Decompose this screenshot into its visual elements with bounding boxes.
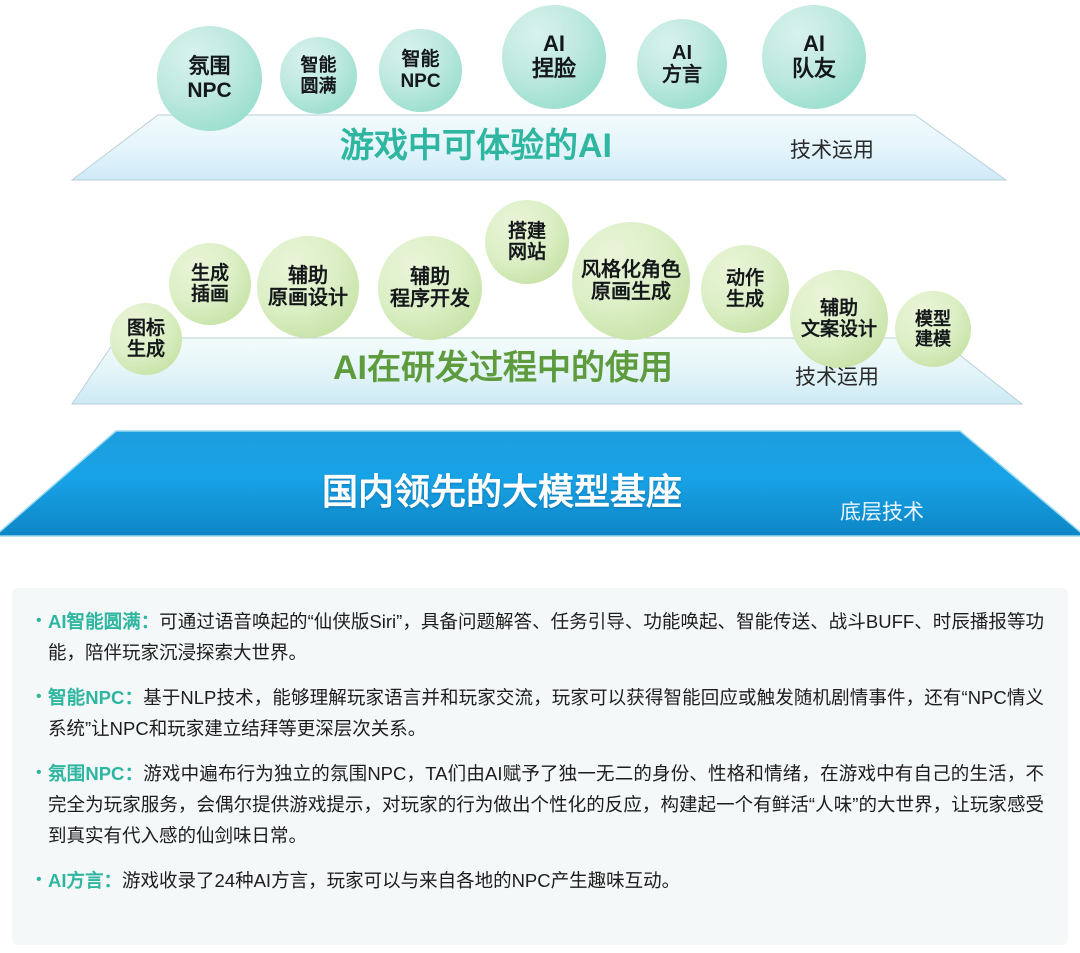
bubble-line: 图标 [127,318,165,339]
bubble-line: 原画生成 [591,281,671,303]
note-term: 氛围NPC： [48,763,143,784]
bubble-line: 程序开发 [390,288,470,310]
bubble-tier1-4[interactable]: AI 方言 [637,19,727,109]
bubble-line: 生成 [191,263,229,284]
bubble-line: 辅助 [410,266,450,288]
note-item: • 氛围NPC：游戏中遍布行为独立的氛围NPC，TA们由AI赋予了独一无二的身份… [34,758,1044,851]
tier-3-caption: 底层技术 [840,496,924,526]
bubble-line: 模型 [915,309,951,329]
bubble-line: 生成 [726,289,764,310]
tier-1-title: 游戏中可体验的AI [340,118,612,167]
bubble-line: 队友 [792,57,836,82]
bubble-tier2-6[interactable]: 动作 生成 [701,245,789,333]
bubble-line: AI [543,32,565,57]
bubble-tier2-4[interactable]: 搭建 网站 [485,200,569,284]
note-text: 基于NLP技术，能够理解玩家语言并和玩家交流，玩家可以获得智能回应或触发随机剧情… [48,687,1044,739]
note-item: • 智能NPC：基于NLP技术，能够理解玩家语言并和玩家交流，玩家可以获得智能回… [34,682,1044,744]
bubble-line: 智能 [301,55,337,75]
bubble-line: 网站 [508,242,546,263]
tier-2-caption: 技术运用 [795,361,879,391]
bubble-tier2-2[interactable]: 辅助 原画设计 [257,236,359,338]
note-body: AI方言：游戏收录了24种AI方言，玩家可以与来自各地的NPC产生趣味互动。 [48,865,1044,896]
bubble-line: 风格化角色 [581,259,681,281]
note-term: 智能NPC： [48,687,143,708]
tier-3-title: 国内领先的大模型基座 [322,463,682,515]
bullet-icon: • [34,606,48,636]
bubble-line: 辅助 [820,298,858,319]
bubble-line: 插画 [191,284,229,305]
bubble-tier2-3[interactable]: 辅助 程序开发 [378,236,482,340]
bubble-tier2-7[interactable]: 辅助 文案设计 [790,270,888,368]
bubble-line: 捏脸 [532,57,576,82]
bubble-tier2-1[interactable]: 生成 插画 [169,243,251,325]
notes-panel: • AI智能圆满：可通过语音唤起的“仙侠版Siri”，具备问题解答、任务引导、功… [12,588,1068,945]
note-text: 游戏中遍布行为独立的氛围NPC，TA们由AI赋予了独一无二的身份、性格和情绪，在… [48,763,1044,846]
note-item: • AI智能圆满：可通过语音唤起的“仙侠版Siri”，具备问题解答、任务引导、功… [34,606,1044,668]
bullet-icon: • [34,865,48,895]
note-term: AI智能圆满： [48,611,159,632]
bubble-line: 方言 [662,64,702,86]
bubble-line: 原画设计 [268,287,348,309]
note-term: AI方言： [48,870,122,891]
pyramid-diagram: 氛围 NPC 智能 圆满 智能 NPC AI 捏脸 AI 方言 AI 队友 游戏… [0,0,1080,575]
bubble-tier1-2[interactable]: 智能 NPC [379,29,462,112]
bubble-line: 生成 [127,339,165,360]
bubble-line: 氛围 [189,55,231,79]
bubble-tier1-0[interactable]: 氛围 NPC [157,26,262,131]
bubble-tier1-3[interactable]: AI 捏脸 [502,5,606,109]
tier-2-title: AI在研发过程中的使用 [333,340,673,389]
bubble-line: 智能 [401,49,439,70]
note-text: 游戏收录了24种AI方言，玩家可以与来自各地的NPC产生趣味互动。 [122,870,680,891]
bubble-tier2-8[interactable]: 模型 建模 [895,291,971,367]
bubble-line: AI [672,42,692,64]
note-body: AI智能圆满：可通过语音唤起的“仙侠版Siri”，具备问题解答、任务引导、功能唤… [48,606,1044,668]
note-item: • AI方言：游戏收录了24种AI方言，玩家可以与来自各地的NPC产生趣味互动。 [34,865,1044,896]
bubble-line: NPC [400,71,440,92]
bubble-line: 搭建 [508,221,546,242]
bubble-line: 辅助 [288,265,328,287]
bubble-line: AI [803,32,825,57]
bubble-line: 建模 [915,329,951,349]
infographic-root: 氛围 NPC 智能 圆满 智能 NPC AI 捏脸 AI 方言 AI 队友 游戏… [0,0,1080,953]
tier-1-caption: 技术运用 [790,134,874,164]
bullet-icon: • [34,758,48,788]
note-text: 可通过语音唤起的“仙侠版Siri”，具备问题解答、任务引导、功能唤起、智能传送、… [48,611,1044,663]
note-body: 氛围NPC：游戏中遍布行为独立的氛围NPC，TA们由AI赋予了独一无二的身份、性… [48,758,1044,851]
bubble-tier2-5[interactable]: 风格化角色 原画生成 [572,222,690,340]
bubble-tier2-0[interactable]: 图标 生成 [110,303,182,375]
bubble-line: 圆满 [301,76,337,96]
bubble-line: NPC [187,79,231,103]
bubble-tier1-5[interactable]: AI 队友 [762,5,866,109]
bubble-tier1-1[interactable]: 智能 圆满 [280,37,357,114]
bubble-line: 动作 [726,268,764,289]
bubble-line: 文案设计 [801,319,877,340]
note-body: 智能NPC：基于NLP技术，能够理解玩家语言并和玩家交流，玩家可以获得智能回应或… [48,682,1044,744]
bullet-icon: • [34,682,48,712]
